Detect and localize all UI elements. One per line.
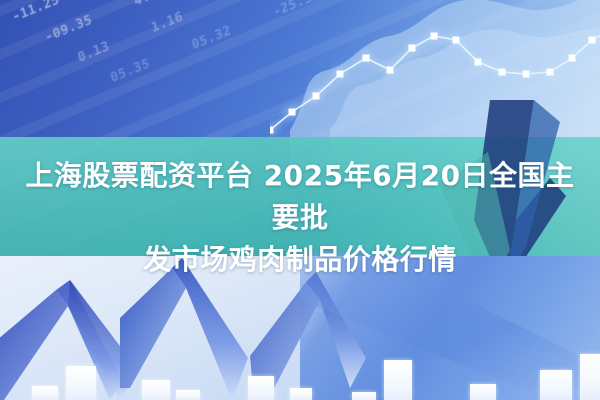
bottom-bar [470,384,496,400]
chart-data-marker [569,55,576,62]
bottom-bar [66,366,96,400]
ticker-value: 1.16 [150,9,185,36]
bottom-bar [142,380,170,400]
chart-data-marker [270,127,274,134]
title-line-2: 发市场鸡肉制品价格行情 [22,239,578,281]
ticker-value: 05.32 [190,23,233,53]
chart-data-marker [409,45,416,52]
ticker-value: -09.35 [43,12,93,45]
ticker-value: 4.25 [132,0,167,10]
title-line-1: 上海股票配资平台 2025年6月20日全国主要批 [22,155,578,239]
bottom-bar [176,390,200,400]
bottom-bar [248,376,274,400]
chart-data-marker [499,69,506,76]
bottom-bar [384,360,412,400]
chart-data-marker [431,33,438,40]
bottom-bar [290,388,312,400]
chart-data-marker [547,69,554,76]
ticker-value: -11.25 [11,0,61,25]
chart-data-marker [313,93,320,100]
chart-data-marker [289,109,296,116]
ticker-value: 05.35 [109,56,152,86]
bottom-bar [32,386,58,400]
ticker-value: 0.13 [76,39,111,66]
bottom-bar [352,392,376,400]
stock-news-banner: -05.3521.1545.024.36-50.02-09.02-11.2545… [0,0,600,400]
bottom-bar-chart [0,340,600,400]
chart-data-marker [337,71,344,78]
ticker-value: -50.02 [223,0,273,6]
banner-title: 上海股票配资平台 2025年6月20日全国主要批 发市场鸡肉制品价格行情 [0,155,600,281]
chart-data-marker [453,37,460,44]
chart-data-marker [589,37,596,44]
bottom-bar [540,370,572,400]
chart-data-marker [363,55,370,62]
chart-data-marker [523,71,530,78]
bottom-bar [580,354,600,400]
ticker-value: 4.95 [0,0,13,5]
chart-data-marker [387,67,394,74]
chart-data-marker [475,59,482,66]
